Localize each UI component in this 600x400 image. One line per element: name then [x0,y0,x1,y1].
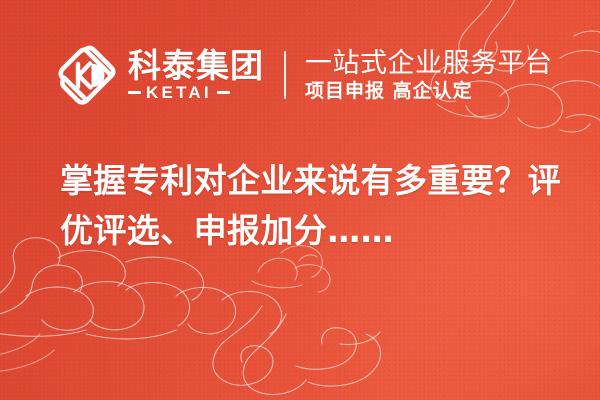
headline-line-1: 掌握专利对企业来说有多重要？评 [60,156,565,206]
brand-name-en-row: KETAI [128,84,264,101]
brand-name-en: KETAI [146,84,212,101]
ketai-diamond-monogram-icon [55,44,117,106]
tagline-main: 一站式企业服务平台 [305,50,553,77]
wordmark-rule-right [217,91,230,94]
banner-header: 科泰集团 KETAI 一站式企业服务平台 项目申报 高企认定 [55,36,555,114]
wordmark-rule-left [128,91,141,94]
tagline-sub: 项目申报 高企认定 [305,82,553,101]
promo-banner: 科泰集团 KETAI 一站式企业服务平台 项目申报 高企认定 掌握专利对企业来说… [0,0,600,400]
headline-block: 掌握专利对企业来说有多重要？评 优评选、申报加分…… [60,156,565,256]
header-divider [284,51,286,99]
tagline-block: 一站式企业服务平台 项目申报 高企认定 [305,50,553,101]
headline-line-2: 优评选、申报加分…… [60,206,565,256]
brand-wordmark: 科泰集团 KETAI [128,49,264,101]
brand-lockup[interactable]: 科泰集团 KETAI [55,44,264,106]
brand-name-cn: 科泰集团 [128,49,264,82]
